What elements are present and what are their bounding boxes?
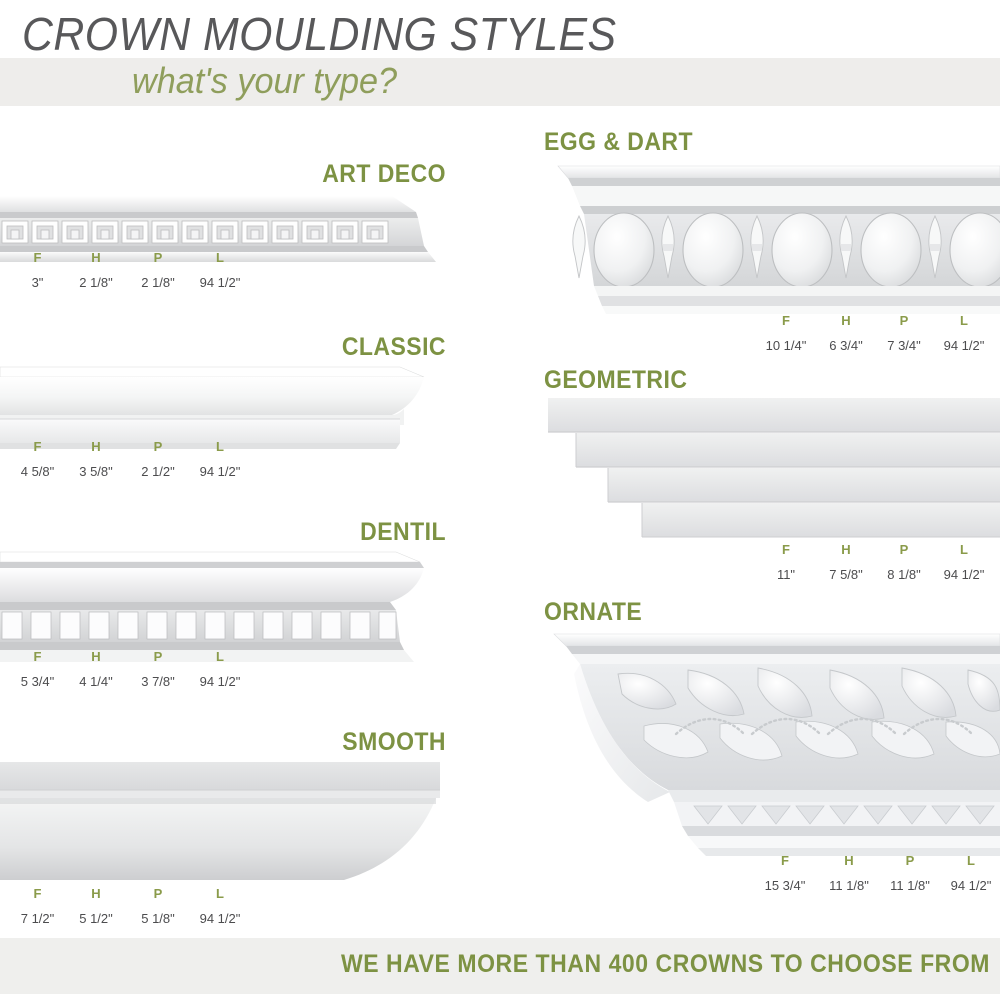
measurements-egg-and-dart: F H P L 10 1/4" 6 3/4" 7 3/4" 94 1/2"	[755, 313, 995, 353]
style-block-art-deco: ART DECO	[0, 160, 460, 310]
measure-header-h: H	[65, 886, 127, 901]
measure-value-h: 6 3/4"	[817, 338, 875, 353]
measure-value-h: 7 5/8"	[817, 567, 875, 582]
measure-value-f: 3"	[10, 275, 65, 290]
measure-header-l: L	[189, 439, 251, 454]
measure-header-p: P	[127, 649, 189, 664]
measure-header-l: L	[189, 649, 251, 664]
measure-header-l: L	[189, 886, 251, 901]
measurements-geometric: F H P L 11" 7 5/8" 8 1/8" 94 1/2"	[755, 542, 995, 582]
measure-header-h: H	[817, 542, 875, 557]
measure-value-p: 11 1/8"	[880, 878, 940, 893]
measurements-art-deco: F H P L 3" 2 1/8" 2 1/8" 94 1/2"	[10, 250, 251, 290]
style-label-ornate: ORNATE	[544, 598, 642, 627]
measure-value-f: 11"	[755, 567, 817, 582]
measure-header-f: F	[10, 250, 65, 265]
measure-header-f: F	[755, 313, 817, 328]
measure-header-f: F	[10, 886, 65, 901]
measure-value-f: 15 3/4"	[752, 878, 818, 893]
measure-header-p: P	[127, 250, 189, 265]
page-title: CROWN MOULDING STYLES	[22, 7, 616, 61]
measure-value-f: 4 5/8"	[10, 464, 65, 479]
measure-value-p: 8 1/8"	[875, 567, 933, 582]
measure-value-p: 5 1/8"	[127, 911, 189, 926]
measure-value-h: 4 1/4"	[65, 674, 127, 689]
moulding-art-smooth	[0, 758, 440, 888]
style-label-art-deco: ART DECO	[41, 160, 446, 189]
measure-value-l: 94 1/2"	[189, 275, 251, 290]
measure-header-f: F	[10, 439, 65, 454]
measure-header-p: P	[880, 853, 940, 868]
measure-header-p: P	[127, 439, 189, 454]
style-block-geometric: GEOMETRIC	[540, 366, 1000, 596]
measure-header-h: H	[65, 250, 127, 265]
measure-value-p: 7 3/4"	[875, 338, 933, 353]
measure-header-l: L	[933, 542, 995, 557]
style-block-smooth: SMOOTH F	[0, 728, 460, 928]
measure-value-l: 94 1/2"	[189, 674, 251, 689]
measurements-smooth: F H P L 7 1/2" 5 1/2" 5 1/8" 94 1/2"	[10, 886, 251, 926]
measurements-ornate: F H P L 15 3/4" 11 1/8" 11 1/8" 94 1/2"	[752, 853, 1000, 893]
measure-value-h: 5 1/2"	[65, 911, 127, 926]
measure-header-h: H	[817, 313, 875, 328]
measure-header-h: H	[65, 649, 127, 664]
measurements-dentil: F H P L 5 3/4" 4 1/4" 3 7/8" 94 1/2"	[10, 649, 251, 689]
measure-value-l: 94 1/2"	[933, 338, 995, 353]
measure-header-h: H	[818, 853, 880, 868]
measurements-classic: F H P L 4 5/8" 3 5/8" 2 1/2" 94 1/2"	[10, 439, 251, 479]
measure-value-h: 3 5/8"	[65, 464, 127, 479]
measure-value-f: 10 1/4"	[755, 338, 817, 353]
measure-value-l: 94 1/2"	[933, 567, 995, 582]
measure-header-f: F	[755, 542, 817, 557]
measure-header-l: L	[933, 313, 995, 328]
moulding-art-egg-and-dart	[550, 160, 1000, 320]
style-block-dentil: DENTIL	[0, 518, 460, 703]
measure-header-f: F	[752, 853, 818, 868]
moulding-art-dentil	[0, 550, 440, 665]
style-label-egg-and-dart: EGG & DART	[544, 128, 693, 157]
style-label-dentil: DENTIL	[41, 518, 446, 547]
measure-value-p: 2 1/2"	[127, 464, 189, 479]
infographic-page: CROWN MOULDING STYLES what's your type? …	[0, 0, 1000, 1000]
measure-value-h: 11 1/8"	[818, 878, 880, 893]
moulding-art-ornate	[548, 630, 1000, 860]
style-label-geometric: GEOMETRIC	[544, 366, 687, 395]
style-label-smooth: SMOOTH	[41, 728, 446, 757]
moulding-art-geometric	[548, 396, 1000, 546]
style-block-ornate: ORNATE	[540, 598, 1000, 928]
measure-value-p: 3 7/8"	[127, 674, 189, 689]
style-label-classic: CLASSIC	[41, 333, 446, 362]
measure-header-l: L	[940, 853, 1000, 868]
measure-value-f: 7 1/2"	[10, 911, 65, 926]
measure-header-f: F	[10, 649, 65, 664]
measure-value-l: 94 1/2"	[189, 464, 251, 479]
measure-value-p: 2 1/8"	[127, 275, 189, 290]
measure-header-p: P	[875, 313, 933, 328]
measure-value-l: 94 1/2"	[940, 878, 1000, 893]
measure-header-l: L	[189, 250, 251, 265]
measure-value-h: 2 1/8"	[65, 275, 127, 290]
measure-value-l: 94 1/2"	[189, 911, 251, 926]
measure-header-p: P	[875, 542, 933, 557]
measure-header-p: P	[127, 886, 189, 901]
page-subtitle: what's your type?	[132, 60, 397, 102]
measure-header-h: H	[65, 439, 127, 454]
measure-value-f: 5 3/4"	[10, 674, 65, 689]
footer-tagline: WE HAVE MORE THAN 400 CROWNS TO CHOOSE F…	[79, 950, 990, 979]
style-block-classic: CLASSIC	[0, 333, 460, 493]
style-block-egg-and-dart: EGG & DART	[540, 128, 1000, 363]
